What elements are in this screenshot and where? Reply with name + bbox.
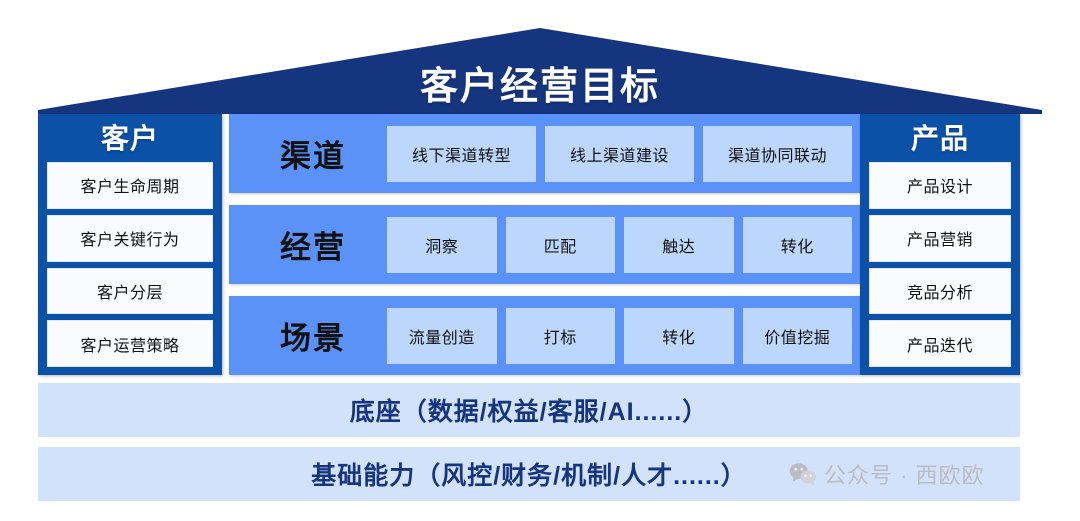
pillar-product-items: 产品设计 产品营销 竞品分析 产品迭代 (869, 162, 1011, 367)
pillar-item[interactable]: 竞品分析 (869, 268, 1011, 315)
row-scenario-chips: 流量创造 打标 转化 价值挖掘 (387, 308, 852, 364)
pillar-item[interactable]: 客户分层 (47, 268, 213, 315)
row-channel[interactable]: 渠道 线下渠道转型 线上渠道建设 渠道协同联动 (229, 114, 860, 193)
row-operation[interactable]: 经营 洞察 匹配 触达 转化 (229, 205, 860, 284)
roof-title: 客户经营目标 (38, 28, 1042, 114)
row-chip[interactable]: 线下渠道转型 (387, 126, 536, 182)
pillar-item[interactable]: 产品迭代 (869, 320, 1011, 367)
row-operation-chips: 洞察 匹配 触达 转化 (387, 217, 852, 273)
row-chip[interactable]: 价值挖掘 (743, 308, 853, 364)
pillar-customer[interactable]: 客户 客户生命周期 客户关键行为 客户分层 客户运营策略 (38, 114, 222, 375)
row-chip[interactable]: 流量创造 (387, 308, 497, 364)
row-chip[interactable]: 转化 (624, 308, 734, 364)
center-rows: 渠道 线下渠道转型 线上渠道建设 渠道协同联动 经营 洞察 匹配 触达 转化 场… (229, 114, 860, 375)
pillar-product-title: 产品 (869, 120, 1011, 162)
pillar-item[interactable]: 客户生命周期 (47, 162, 213, 209)
pillar-customer-title: 客户 (47, 120, 213, 162)
row-channel-chips: 线下渠道转型 线上渠道建设 渠道协同联动 (387, 126, 852, 182)
pillar-item[interactable]: 产品设计 (869, 162, 1011, 209)
diagram-body: 客户 客户生命周期 客户关键行为 客户分层 客户运营策略 渠道 线下渠道转型 线… (38, 114, 1020, 375)
roof-triangle: 客户经营目标 (38, 28, 1042, 114)
pillar-item[interactable]: 客户运营策略 (47, 320, 213, 367)
row-chip[interactable]: 转化 (743, 217, 853, 273)
row-chip[interactable]: 匹配 (506, 217, 616, 273)
row-chip[interactable]: 触达 (624, 217, 734, 273)
row-operation-label: 经营 (239, 222, 387, 267)
row-chip[interactable]: 打标 (506, 308, 616, 364)
row-channel-label: 渠道 (239, 131, 387, 176)
row-chip[interactable]: 线上渠道建设 (545, 126, 694, 182)
row-chip[interactable]: 洞察 (387, 217, 497, 273)
pillar-customer-items: 客户生命周期 客户关键行为 客户分层 客户运营策略 (47, 162, 213, 367)
pillar-item[interactable]: 客户关键行为 (47, 215, 213, 262)
row-scenario-label: 场景 (239, 313, 387, 358)
pillar-item[interactable]: 产品营销 (869, 215, 1011, 262)
foundation-bar-base[interactable]: 底座（数据/权益/客服/AI......） (38, 383, 1020, 437)
row-chip[interactable]: 渠道协同联动 (703, 126, 852, 182)
row-scenario[interactable]: 场景 流量创造 打标 转化 价值挖掘 (229, 296, 860, 375)
pyramid-framework-diagram: 客户经营目标 客户 客户生命周期 客户关键行为 客户分层 客户运营策略 渠道 线… (0, 0, 1080, 521)
foundation-bar-capability[interactable]: 基础能力（风控/财务/机制/人才......） (38, 447, 1020, 501)
pillar-product[interactable]: 产品 产品设计 产品营销 竞品分析 产品迭代 (860, 114, 1020, 375)
